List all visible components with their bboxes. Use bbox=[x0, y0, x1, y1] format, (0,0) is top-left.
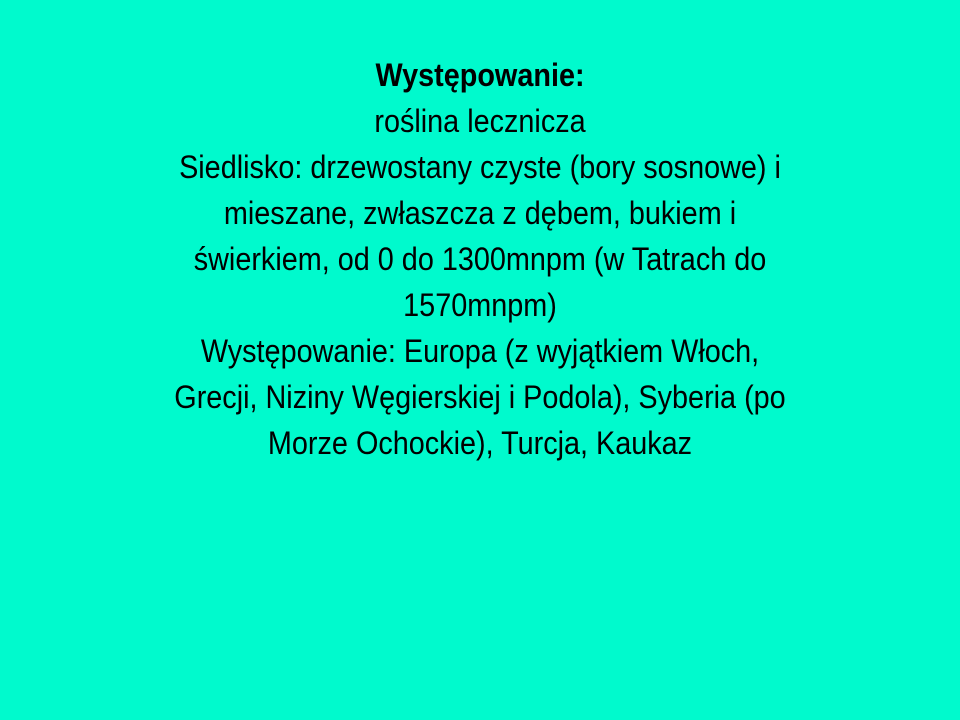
body-line-5: świerkiem, od 0 do 1300mnpm (w Tatrach d… bbox=[120, 236, 840, 282]
body-line-4: mieszane, zwłaszcza z dębem, bukiem i bbox=[120, 190, 840, 236]
slide-body-text: Występowanie:roślina leczniczaSiedlisko:… bbox=[120, 52, 840, 466]
body-line-7: Występowanie: Europa (z wyjątkiem Włoch, bbox=[120, 328, 840, 374]
body-line-3: Siedlisko: drzewostany czyste (bory sosn… bbox=[120, 144, 840, 190]
body-line-1: Występowanie: bbox=[120, 52, 840, 98]
body-line-9: Morze Ochockie), Turcja, Kaukaz bbox=[120, 420, 840, 466]
body-line-6: 1570mnpm) bbox=[120, 282, 840, 328]
body-line-2: roślina lecznicza bbox=[120, 98, 840, 144]
body-line-8: Grecji, Niziny Węgierskiej i Podola), Sy… bbox=[120, 374, 840, 420]
slide-canvas: Występowanie:roślina leczniczaSiedlisko:… bbox=[0, 0, 960, 720]
